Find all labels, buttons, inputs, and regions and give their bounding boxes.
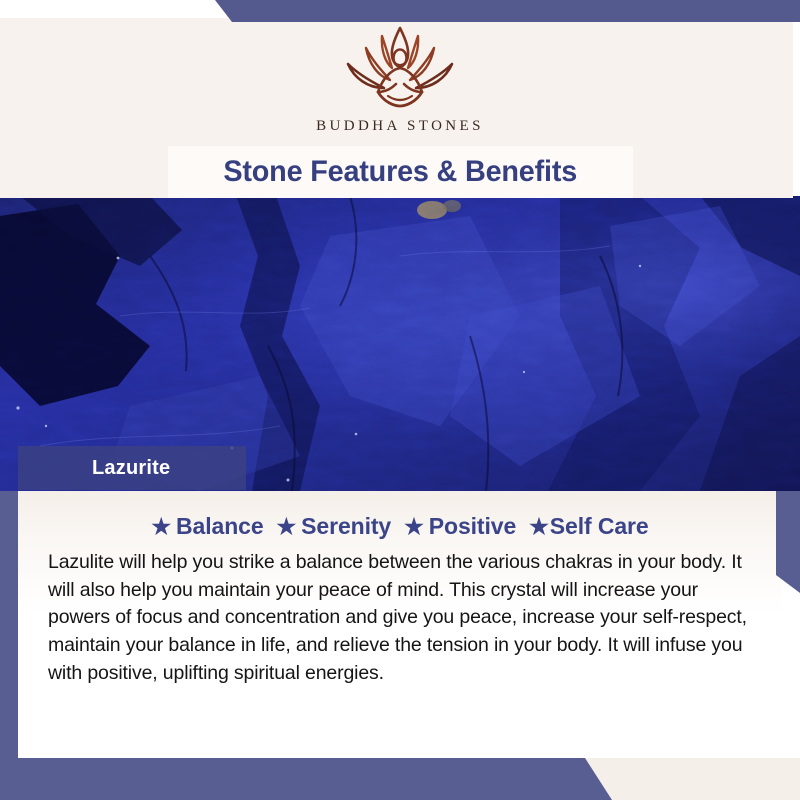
benefit-label: Self Care xyxy=(550,513,649,540)
stone-name-label: Lazurite xyxy=(92,457,170,480)
star-icon: ★ xyxy=(277,516,297,538)
benefit-item-serenity: ★ Serenity xyxy=(277,513,405,540)
benefit-label: Balance xyxy=(176,513,264,540)
content-card: ★ Balance ★ Serenity ★ Positive ★ Self C… xyxy=(18,491,782,758)
star-icon: ★ xyxy=(404,516,424,538)
benefit-item-positive: ★ Positive xyxy=(404,513,529,540)
brand-logo: BUDDHA STONES xyxy=(0,22,800,135)
benefits-list: ★ Balance ★ Serenity ★ Positive ★ Self C… xyxy=(42,513,758,540)
star-icon: ★ xyxy=(151,516,171,538)
title-plate: Stone Features & Benefits xyxy=(168,146,633,198)
benefit-item-balance: ★ Balance xyxy=(151,513,276,540)
stone-description: Lazulite will help you strike a balance … xyxy=(42,549,758,687)
brand-name: BUDDHA STONES xyxy=(316,118,484,135)
left-decorative-rail xyxy=(0,491,18,758)
stone-name-chip: Lazurite xyxy=(18,446,246,490)
lotus-meditation-icon xyxy=(336,22,464,114)
benefit-item-self-care: ★ Self Care xyxy=(529,513,648,540)
benefit-label: Positive xyxy=(429,513,516,540)
page-title: Stone Features & Benefits xyxy=(224,155,578,189)
star-icon: ★ xyxy=(529,516,549,538)
benefit-label: Serenity xyxy=(301,513,391,540)
infographic-poster: BUDDHA STONES Stone Features & Benefits xyxy=(0,0,800,800)
